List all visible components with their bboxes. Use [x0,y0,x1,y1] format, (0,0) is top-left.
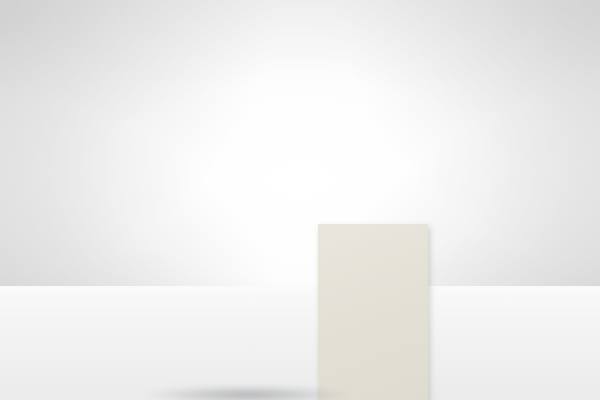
surface-shelf [0,286,600,400]
product-shadow [146,386,436,400]
infographic-canvas: GEHARD GLAS Bestand tegen breuk en krass… [0,0,600,400]
clock-backboard [318,224,428,400]
